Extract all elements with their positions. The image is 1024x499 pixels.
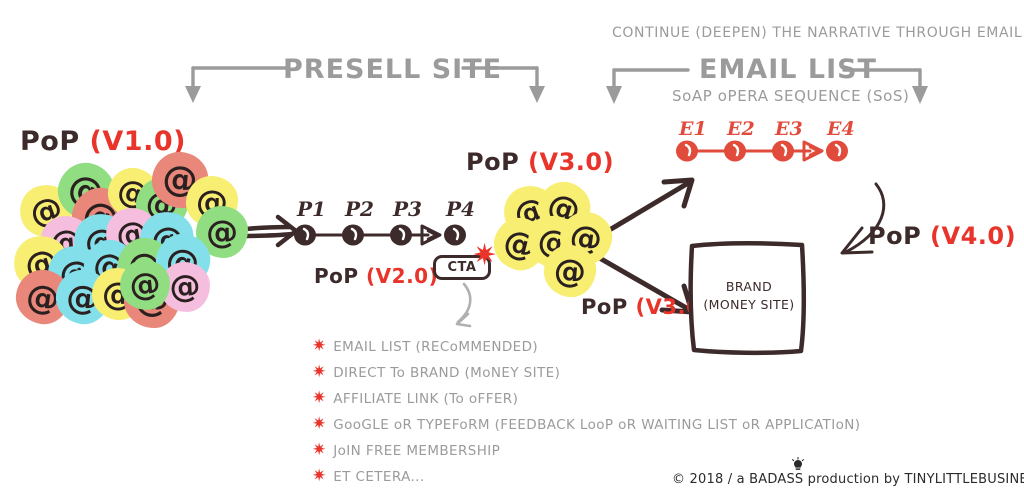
list-item: ✷AFFILIATE LINK (To oFFER) xyxy=(312,390,860,407)
email-node-label-e1: E1 xyxy=(679,118,707,140)
email-node-label-e3: E3 xyxy=(775,118,803,140)
brand-box-line1: BRAND xyxy=(694,278,804,296)
list-item-label: ET CETERA... xyxy=(333,469,424,485)
bullet-star-icon: ✷ xyxy=(312,468,326,485)
email-list-title: EMAIL LIST xyxy=(699,54,877,85)
pop-label-v3-top: PoP (V3.0) xyxy=(466,148,614,176)
list-item: ✷EMAIL LIST (RECoMMENDED) xyxy=(312,338,860,355)
pop-label-v3-top-version: (V3.0) xyxy=(528,148,614,176)
presell-site-title: PRESELL SITE xyxy=(283,54,502,85)
bullet-star-icon: ✷ xyxy=(312,390,326,407)
pop-label-v2: PoP (V2.0) xyxy=(314,264,438,288)
list-item-label: AFFILIATE LINK (To oFFER) xyxy=(333,391,518,407)
list-item: ✷GooGLE oR TYPEFoRM (FEEDBACK LooP oR WA… xyxy=(312,416,860,433)
pop-label-v4: PoP (V4.0) xyxy=(868,222,1016,250)
pop-label-v2-version: (V2.0) xyxy=(366,264,438,288)
list-item: ✷DIRECT To BRAND (MoNEY SITE) xyxy=(312,364,860,381)
email-node-chain xyxy=(678,138,858,168)
pop-label-v4-name: PoP xyxy=(868,222,921,250)
brand-box-line2: (MONEY SITE) xyxy=(694,296,804,314)
options-list: ✷EMAIL LIST (RECoMMENDED)✷DIRECT To BRAN… xyxy=(312,338,860,485)
presell-node-label-p1: P1 xyxy=(297,197,326,221)
pop-label-v4-version: (V4.0) xyxy=(930,222,1016,250)
presell-node-chain xyxy=(296,222,476,252)
email-node-label-e2: E2 xyxy=(727,118,755,140)
list-item-label: EMAIL LIST (RECoMMENDED) xyxy=(333,339,538,355)
pop-label-v2-name: PoP xyxy=(314,264,359,288)
list-item-label: JoIN FREE MEMBERSHIP xyxy=(333,443,500,459)
pop-label-v1: PoP (V1.0) xyxy=(20,126,186,157)
bullet-star-icon: ✷ xyxy=(312,364,326,381)
list-item-label: DIRECT To BRAND (MoNEY SITE) xyxy=(333,365,560,381)
bullet-star-icon: ✷ xyxy=(312,338,326,355)
pop-label-v3-bottom-name: PoP xyxy=(581,295,628,319)
email-sub-caption: SoAP oPERA SEQUENCE (SoS) xyxy=(672,87,909,105)
presell-node-label-p3: P3 xyxy=(393,197,422,221)
credit-bulb-icon xyxy=(790,457,806,473)
email-top-caption: CONTINUE (DEEPEN) THE NARRATIVE THROUGH … xyxy=(612,25,1022,41)
list-item: ✷JoIN FREE MEMBERSHIP xyxy=(312,442,860,459)
bullet-star-icon: ✷ xyxy=(312,442,326,459)
bullet-star-icon: ✷ xyxy=(312,416,326,433)
presell-node-label-p2: P2 xyxy=(345,197,374,221)
credit-line: © 2018 / a BADASS production by TINYLITT… xyxy=(672,472,1024,487)
pop-label-v1-name: PoP xyxy=(20,126,80,157)
brand-box-label: BRAND (MONEY SITE) xyxy=(694,278,804,314)
pop-label-v3-top-name: PoP xyxy=(466,148,519,176)
email-node-label-e4: E4 xyxy=(827,118,855,140)
arrow-cta-to-options xyxy=(452,282,512,330)
diagram-canvas: PoP (V1.0) PRESELL SITE xyxy=(0,0,1024,499)
presell-node-label-p4: P4 xyxy=(446,197,475,221)
list-item-label: GooGLE oR TYPEFoRM (FEEDBACK LooP oR WAI… xyxy=(333,417,860,433)
